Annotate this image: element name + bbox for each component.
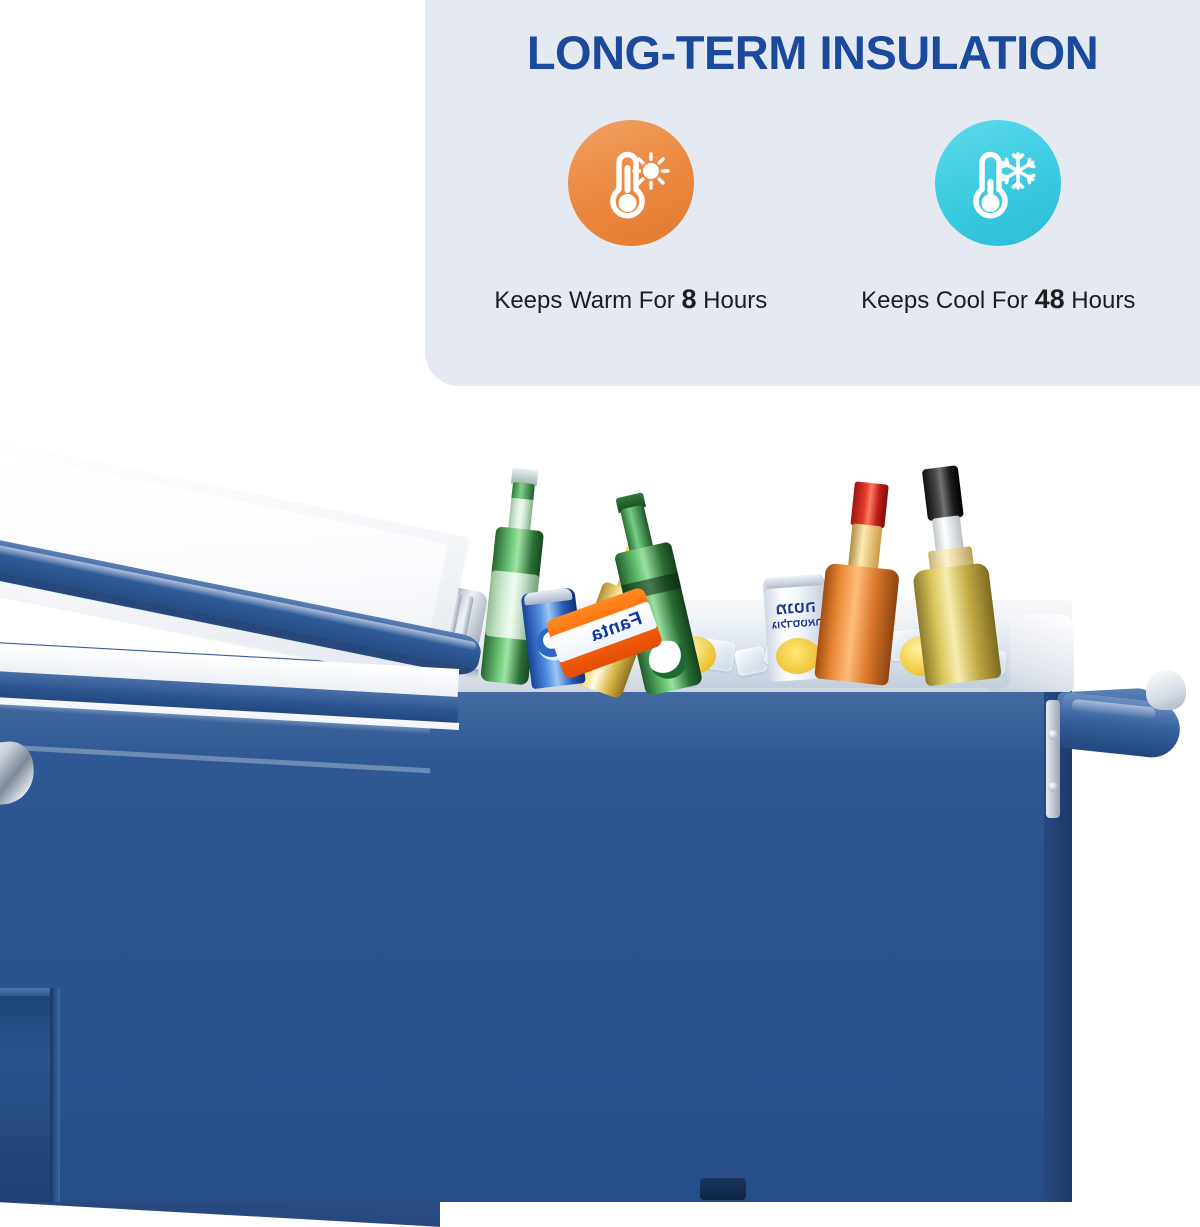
bottle-cap	[850, 481, 888, 528]
bottle-body	[814, 563, 900, 686]
page-title: LONG-TERM INSULATION	[425, 25, 1200, 80]
thermometer-sun-icon	[589, 141, 673, 225]
handle-hinge-plate	[1046, 700, 1060, 818]
keeps-cool-suffix: Hours	[1065, 287, 1136, 314]
handle-hinge-bolt	[1048, 730, 1058, 740]
bottle-neck-label	[507, 498, 534, 530]
handle-hinge-bolt	[1048, 782, 1058, 792]
feature-keeps-cool: Keeps Cool For 48 Hours	[833, 120, 1163, 315]
cooler-recess-edge	[50, 988, 60, 1202]
keeps-warm-suffix: Hours	[697, 287, 768, 314]
can-top	[765, 574, 822, 589]
keeps-warm-value: 8	[681, 284, 696, 314]
keeps-cool-value: 48	[1035, 284, 1065, 314]
cooler-recess-panel	[0, 996, 56, 1202]
side-handle-cap	[1146, 670, 1186, 710]
cooler-leg	[700, 1178, 746, 1200]
bottle-cap	[922, 465, 964, 521]
can-brand-text: Fanta	[564, 608, 645, 655]
thermometer-snowflake-icon	[956, 141, 1040, 225]
keeps-warm-prefix: Keeps Warm For	[494, 287, 681, 314]
insulation-info-panel: LONG-TERM INSULATION	[425, 0, 1200, 386]
feature-keeps-warm: Keeps Warm For 8 Hours	[466, 120, 796, 315]
keeps-cool-icon-badge	[935, 120, 1061, 246]
feature-row: Keeps Warm For 8 Hours	[447, 120, 1182, 315]
bottle-body	[912, 562, 1002, 686]
keeps-warm-icon-badge	[568, 120, 694, 246]
keeps-warm-caption: Keeps Warm For 8 Hours	[494, 284, 767, 315]
keeps-cool-prefix: Keeps Cool For	[861, 287, 1034, 314]
keeps-cool-caption: Keeps Cool For 48 Hours	[861, 284, 1135, 315]
